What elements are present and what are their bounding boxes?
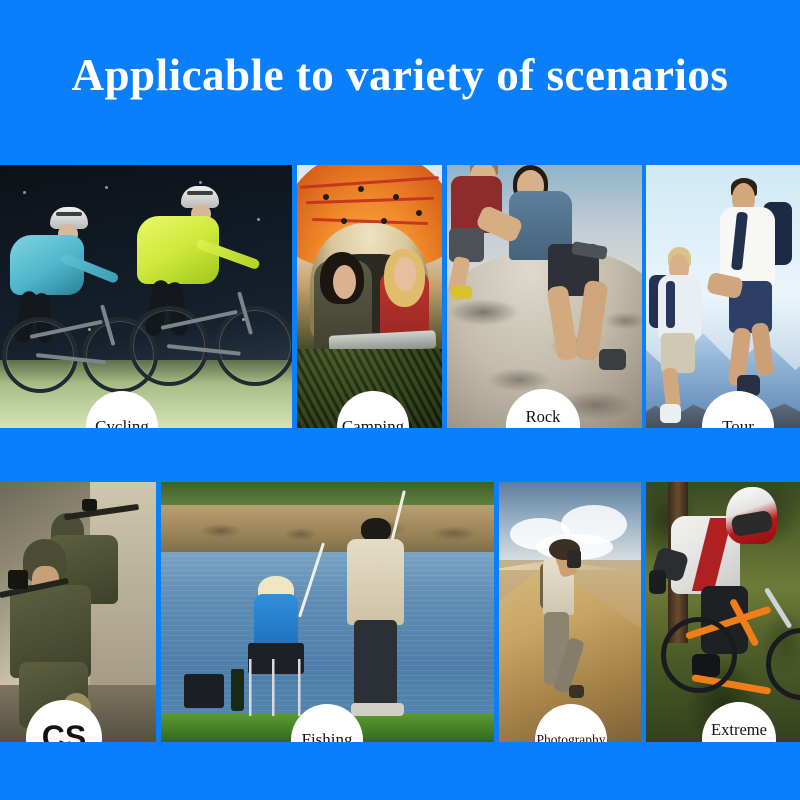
scenario-label-camping: Camping bbox=[340, 417, 406, 428]
scenario-tile-fishing[interactable]: Fishing bbox=[161, 482, 494, 742]
camping-photo bbox=[297, 165, 442, 428]
scenario-tile-cs[interactable]: CS bbox=[0, 482, 156, 742]
rock-climbing-line1: Rock bbox=[526, 407, 561, 426]
extreme-sport-line2: sport bbox=[722, 738, 755, 742]
scenario-tile-tour[interactable]: Tour bbox=[646, 165, 800, 428]
scenario-label-extreme-sport: Extreme sport bbox=[709, 721, 769, 742]
scenario-row-1: Cycling Campi bbox=[0, 165, 800, 428]
rock-climbing-line2: climbing bbox=[514, 425, 573, 428]
cooler-box bbox=[184, 674, 224, 708]
scenario-tile-extreme-sport[interactable]: Extreme sport bbox=[646, 482, 800, 742]
extreme-sport-line1: Extreme bbox=[711, 720, 767, 739]
far-bank-rocks bbox=[161, 505, 494, 552]
cyclist-right bbox=[131, 186, 292, 412]
folding-chair bbox=[244, 659, 307, 716]
extreme-sport-photo bbox=[646, 482, 800, 742]
bottle bbox=[231, 669, 244, 711]
scenario-tile-cycling[interactable]: Cycling bbox=[0, 165, 292, 428]
scenario-label-fishing: Fishing bbox=[299, 730, 354, 742]
cycling-photo bbox=[0, 165, 292, 428]
poster-canvas: Applicable to variety of scenarios bbox=[0, 0, 800, 800]
scenario-label-photography: Photography bbox=[535, 732, 608, 742]
scenario-label-cs: CS bbox=[42, 720, 86, 742]
scenario-label-tour: Tour bbox=[720, 417, 756, 428]
tour-photo bbox=[646, 165, 800, 428]
page-title: Applicable to variety of scenarios bbox=[0, 52, 800, 99]
scenario-tile-photography[interactable]: Photography bbox=[499, 482, 641, 742]
scenario-label-rock-climbing: Rock climbing bbox=[512, 408, 575, 428]
photography-photo bbox=[499, 482, 641, 742]
cyclist-left bbox=[6, 207, 146, 412]
scenario-tile-camping[interactable]: Camping bbox=[297, 165, 442, 428]
scenario-tile-rock-climbing[interactable]: Rock climbing bbox=[447, 165, 642, 428]
scenario-label-cycling: Cycling bbox=[93, 417, 151, 428]
scenario-row-2: CS Fishin bbox=[0, 482, 800, 742]
fishing-photo bbox=[161, 482, 494, 742]
